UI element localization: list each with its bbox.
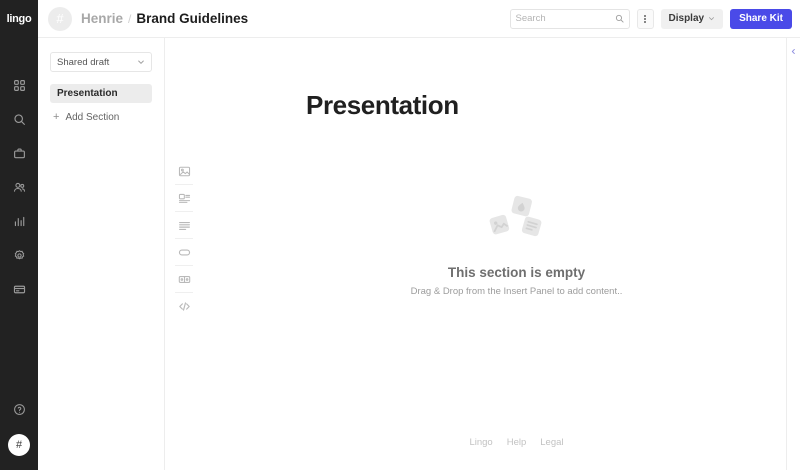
header-actions: Display Share Kit: [510, 9, 792, 29]
image-block-icon[interactable]: [171, 158, 197, 184]
collapse-right-panel[interactable]: [786, 38, 800, 470]
draft-status-label: Shared draft: [57, 57, 137, 68]
app-header: # Henrie / Brand Guidelines: [38, 0, 800, 38]
embed-code-block-icon[interactable]: [171, 293, 197, 319]
help-icon[interactable]: [4, 398, 34, 420]
gallery-block-icon[interactable]: [171, 266, 197, 292]
apps-grid-icon[interactable]: [4, 74, 34, 96]
share-kit-button[interactable]: Share Kit: [730, 9, 792, 29]
search-icon: [615, 14, 624, 23]
insert-panel: [165, 38, 203, 470]
more-options-button[interactable]: [637, 9, 654, 29]
breadcrumb: Henrie / Brand Guidelines: [81, 11, 248, 26]
add-section-label: Add Section: [65, 112, 119, 123]
chevron-down-icon: [708, 15, 715, 22]
display-dropdown[interactable]: Display: [661, 9, 724, 29]
text-block-icon[interactable]: [171, 212, 197, 238]
primary-nav-rail: lingo: [0, 0, 38, 470]
breadcrumb-kit[interactable]: Brand Guidelines: [136, 11, 248, 26]
display-dropdown-label: Display: [669, 13, 705, 24]
chevron-left-icon: [790, 48, 797, 55]
search-input[interactable]: [516, 13, 615, 24]
footer-link-lingo[interactable]: Lingo: [469, 437, 492, 448]
chevron-down-icon: [137, 58, 145, 66]
empty-state-subtitle: Drag & Drop from the Insert Panel to add…: [411, 286, 623, 297]
section-canvas: Presentation: [203, 38, 800, 470]
rail-icon-list: [4, 74, 34, 300]
footer-link-legal[interactable]: Legal: [540, 437, 563, 448]
main-area: # Henrie / Brand Guidelines: [38, 0, 800, 470]
button-block-icon[interactable]: [171, 239, 197, 265]
workspace-body: Shared draft Presentation + Add Section: [38, 38, 800, 470]
sidebar-item-presentation[interactable]: Presentation: [50, 84, 152, 103]
chart-bar-icon[interactable]: [4, 210, 34, 232]
plus-icon: +: [53, 112, 59, 123]
search-box[interactable]: [510, 9, 630, 29]
draft-status-select[interactable]: Shared draft: [50, 52, 152, 72]
vertical-dots-icon: [644, 18, 646, 20]
empty-cards-illustration: [485, 193, 549, 243]
search-icon[interactable]: [4, 108, 34, 130]
breadcrumb-org[interactable]: Henrie: [81, 11, 123, 26]
briefcase-icon[interactable]: [4, 142, 34, 164]
sections-sidebar: Shared draft Presentation + Add Section: [38, 38, 165, 470]
empty-state: This section is empty Drag & Drop from t…: [233, 75, 800, 414]
lingo-logo[interactable]: lingo: [0, 0, 38, 38]
gear-icon[interactable]: [4, 244, 34, 266]
footer-link-help[interactable]: Help: [507, 437, 527, 448]
app-root: lingo: [0, 0, 800, 470]
workspace-avatar[interactable]: #: [48, 7, 72, 31]
media-text-block-icon[interactable]: [171, 185, 197, 211]
add-section-button[interactable]: + Add Section: [50, 112, 152, 123]
card-icon[interactable]: [4, 278, 34, 300]
empty-state-title: This section is empty: [448, 265, 585, 280]
user-avatar[interactable]: #: [8, 434, 30, 456]
people-icon[interactable]: [4, 176, 34, 198]
page-footer: Lingo Help Legal: [233, 414, 800, 470]
breadcrumb-separator: /: [128, 12, 131, 26]
